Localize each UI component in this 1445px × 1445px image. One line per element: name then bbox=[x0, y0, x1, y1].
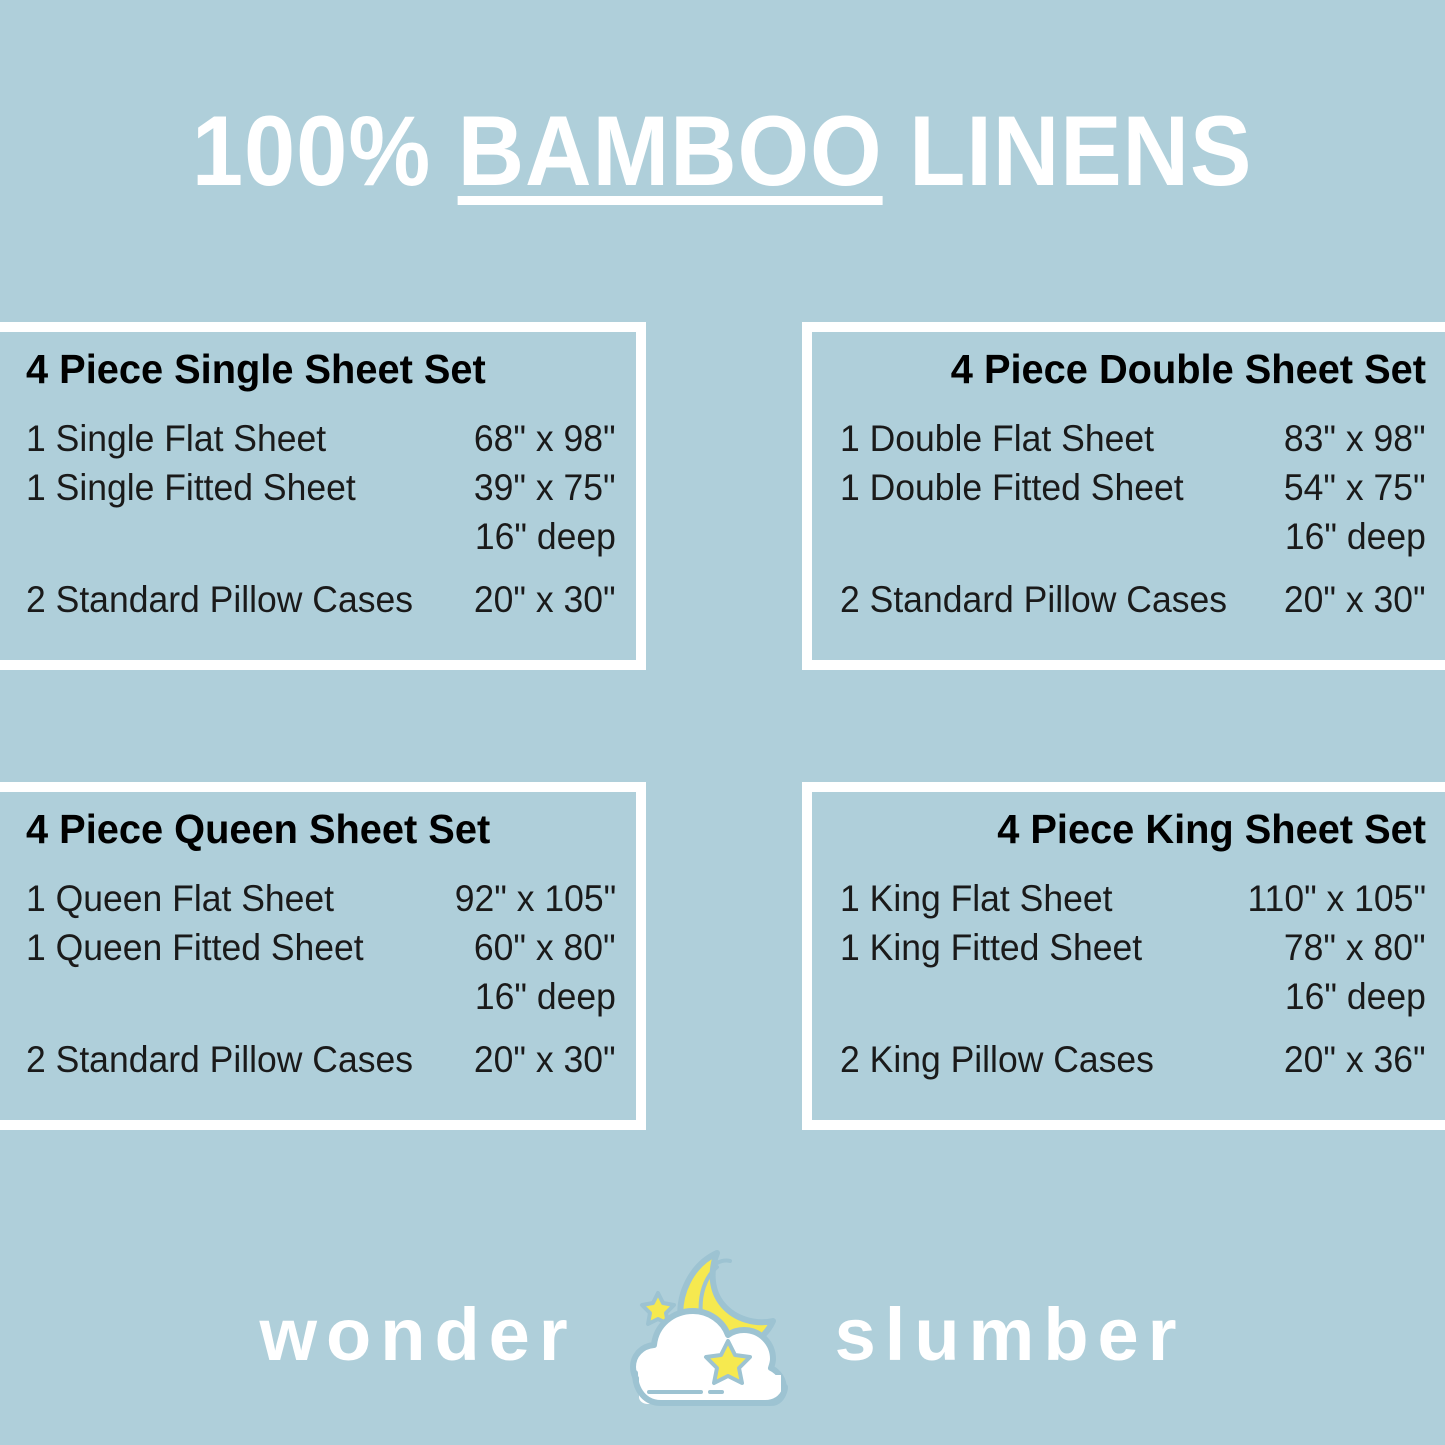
sheet-set-card-king[interactable]: 4 Piece King Sheet Set 1 King Flat Sheet… bbox=[802, 782, 1445, 1130]
row-value: 16" deep bbox=[475, 513, 616, 562]
table-row-depth: 16" deep bbox=[26, 513, 616, 562]
row-value: 20" x 30" bbox=[474, 576, 616, 625]
table-row: 1 Queen Fitted Sheet 60" x 80" bbox=[26, 924, 616, 973]
row-label: 1 King Flat Sheet bbox=[840, 875, 1112, 924]
table-row: 2 King Pillow Cases 20" x 36" bbox=[840, 1036, 1426, 1085]
row-label: 2 Standard Pillow Cases bbox=[26, 1036, 413, 1085]
card-title: 4 Piece King Sheet Set bbox=[858, 806, 1426, 853]
row-value: 20" x 36" bbox=[1284, 1036, 1426, 1085]
row-label: 2 King Pillow Cases bbox=[840, 1036, 1154, 1085]
row-value: 20" x 30" bbox=[1284, 576, 1426, 625]
table-row-depth: 16" deep bbox=[840, 973, 1426, 1022]
card-title: 4 Piece Double Sheet Set bbox=[858, 346, 1426, 393]
table-row-depth: 16" deep bbox=[840, 513, 1426, 562]
row-value: 83" x 98" bbox=[1284, 415, 1426, 464]
table-row: 2 Standard Pillow Cases 20" x 30" bbox=[26, 1036, 616, 1085]
card-content: 4 Piece King Sheet Set 1 King Flat Sheet… bbox=[812, 792, 1445, 1120]
row-label: 1 Double Fitted Sheet bbox=[840, 464, 1184, 513]
moon-cloud-stars-icon bbox=[625, 1245, 795, 1425]
table-row: 2 Standard Pillow Cases 20" x 30" bbox=[840, 576, 1426, 625]
table-row: 1 Double Fitted Sheet 54" x 75" bbox=[840, 464, 1426, 513]
card-row-list: 1 King Flat Sheet 110" x 105" 1 King Fit… bbox=[840, 875, 1426, 1084]
card-content: 4 Piece Queen Sheet Set 1 Queen Flat She… bbox=[0, 792, 636, 1120]
page-title-suffix: LINENS bbox=[883, 95, 1253, 206]
page-title: 100% BAMBOO LINENS bbox=[192, 101, 1252, 200]
row-label: 2 Standard Pillow Cases bbox=[26, 576, 413, 625]
row-label: 2 Standard Pillow Cases bbox=[840, 576, 1227, 625]
row-value: 16" deep bbox=[1285, 973, 1426, 1022]
row-label: 1 Single Flat Sheet bbox=[26, 415, 326, 464]
row-value: 78" x 80" bbox=[1284, 924, 1426, 973]
page-title-prefix: 100% bbox=[192, 95, 458, 206]
card-title: 4 Piece Single Sheet Set bbox=[26, 346, 598, 393]
page-title-underlined-word: BAMBOO bbox=[458, 95, 883, 206]
table-row: 1 Queen Flat Sheet 92" x 105" bbox=[26, 875, 616, 924]
sheet-set-card-queen[interactable]: 4 Piece Queen Sheet Set 1 Queen Flat She… bbox=[0, 782, 646, 1130]
table-row: 1 Single Flat Sheet 68" x 98" bbox=[26, 415, 616, 464]
card-row-list: 1 Double Flat Sheet 83" x 98" 1 Double F… bbox=[840, 415, 1426, 624]
row-value: 54" x 75" bbox=[1284, 464, 1426, 513]
row-label: 1 Double Flat Sheet bbox=[840, 415, 1154, 464]
brand-word-slumber: slumber bbox=[835, 1298, 1186, 1372]
card-content: 4 Piece Double Sheet Set 1 Double Flat S… bbox=[812, 332, 1445, 660]
card-row-list: 1 Single Flat Sheet 68" x 98" 1 Single F… bbox=[26, 415, 616, 624]
row-value: 92" x 105" bbox=[455, 875, 616, 924]
row-label: 1 King Fitted Sheet bbox=[840, 924, 1142, 973]
table-row: 1 Single Fitted Sheet 39" x 75" bbox=[26, 464, 616, 513]
sheet-set-card-double[interactable]: 4 Piece Double Sheet Set 1 Double Flat S… bbox=[802, 322, 1445, 670]
row-value: 68" x 98" bbox=[474, 415, 616, 464]
table-row: 2 Standard Pillow Cases 20" x 30" bbox=[26, 576, 616, 625]
row-label: 1 Queen Fitted Sheet bbox=[26, 924, 364, 973]
card-content: 4 Piece Single Sheet Set 1 Single Flat S… bbox=[0, 332, 636, 660]
row-value: 39" x 75" bbox=[474, 464, 616, 513]
brand-footer: wonder slumber bbox=[0, 1225, 1445, 1445]
table-row: 1 King Flat Sheet 110" x 105" bbox=[840, 875, 1426, 924]
brand-word-wonder: wonder bbox=[260, 1298, 577, 1372]
row-value: 16" deep bbox=[1285, 513, 1426, 562]
page-header: 100% BAMBOO LINENS bbox=[0, 0, 1445, 300]
row-label: 1 Queen Flat Sheet bbox=[26, 875, 334, 924]
row-value: 16" deep bbox=[475, 973, 616, 1022]
table-row-depth: 16" deep bbox=[26, 973, 616, 1022]
table-row: 1 Double Flat Sheet 83" x 98" bbox=[840, 415, 1426, 464]
row-label: 1 Single Fitted Sheet bbox=[26, 464, 356, 513]
card-title: 4 Piece Queen Sheet Set bbox=[26, 806, 598, 853]
sheet-set-card-single[interactable]: 4 Piece Single Sheet Set 1 Single Flat S… bbox=[0, 322, 646, 670]
table-row: 1 King Fitted Sheet 78" x 80" bbox=[840, 924, 1426, 973]
row-value: 20" x 30" bbox=[474, 1036, 616, 1085]
card-row-list: 1 Queen Flat Sheet 92" x 105" 1 Queen Fi… bbox=[26, 875, 616, 1084]
row-value: 110" x 105" bbox=[1247, 875, 1426, 924]
row-value: 60" x 80" bbox=[474, 924, 616, 973]
